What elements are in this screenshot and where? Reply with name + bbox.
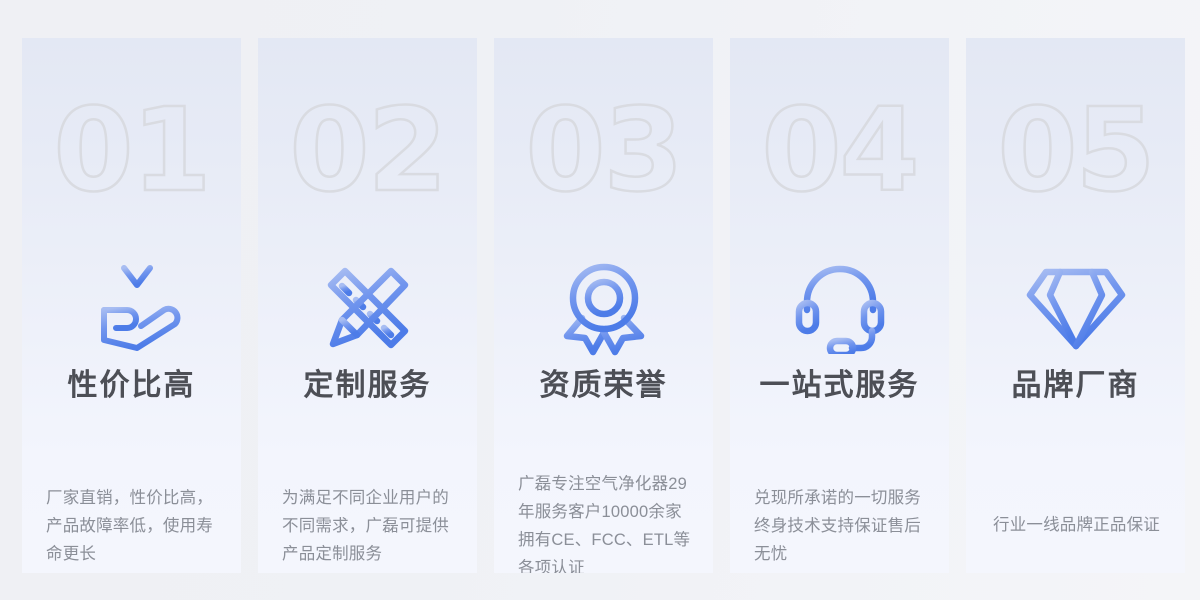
feature-card-3[interactable]: 03 资质荣誉 广磊专注空气净化器29年服务客户10000余家拥有CE、FCC、…: [494, 38, 713, 573]
card-description: 行业一线品牌正品保证: [980, 511, 1173, 539]
card-title: 一站式服务: [730, 360, 949, 404]
features-section: 01 性价比高 厂家直销，性价比高，产品故障率低，使用寿命更长 02: [22, 38, 1185, 573]
card-description: 兑现所承诺的一切服务终身技术支持保证售后无忧: [754, 484, 927, 568]
award-medal-icon: [494, 250, 713, 365]
hand-holding-yuan-icon: [22, 250, 241, 365]
card-number-badge: 01: [22, 94, 241, 209]
card-title: 品牌厂商: [966, 360, 1185, 404]
feature-card-1[interactable]: 01 性价比高 厂家直销，性价比高，产品故障率低，使用寿命更长: [22, 38, 241, 573]
card-description: 厂家直销，性价比高，产品故障率低，使用寿命更长: [46, 484, 219, 568]
card-number-badge: 05: [966, 94, 1185, 209]
card-title: 资质荣誉: [494, 360, 713, 404]
card-description: 广磊专注空气净化器29年服务客户10000余家拥有CE、FCC、ETL等各项认证: [518, 470, 691, 573]
pencil-ruler-icon: [258, 250, 477, 365]
card-title: 性价比高: [22, 360, 241, 404]
card-number-badge: 04: [730, 94, 949, 209]
card-number-badge: 03: [494, 94, 713, 209]
card-number-badge: 02: [258, 94, 477, 209]
feature-card-5[interactable]: 05 品牌厂商 行业一线品牌正品保证: [966, 38, 1185, 573]
feature-card-4[interactable]: 04 一站式服务 兑现所承诺的一切服务终身技术支持保证售后无忧: [730, 38, 949, 573]
card-description: 为满足不同企业用户的不同需求，广磊可提供产品定制服务: [282, 484, 455, 568]
feature-card-2[interactable]: 02 定制服务 为满足不同企业用户的不同需求，广磊可提供产品定制服务: [258, 38, 477, 573]
diamond-icon: [966, 250, 1185, 365]
headset-icon: [730, 250, 949, 365]
card-title: 定制服务: [258, 360, 477, 404]
